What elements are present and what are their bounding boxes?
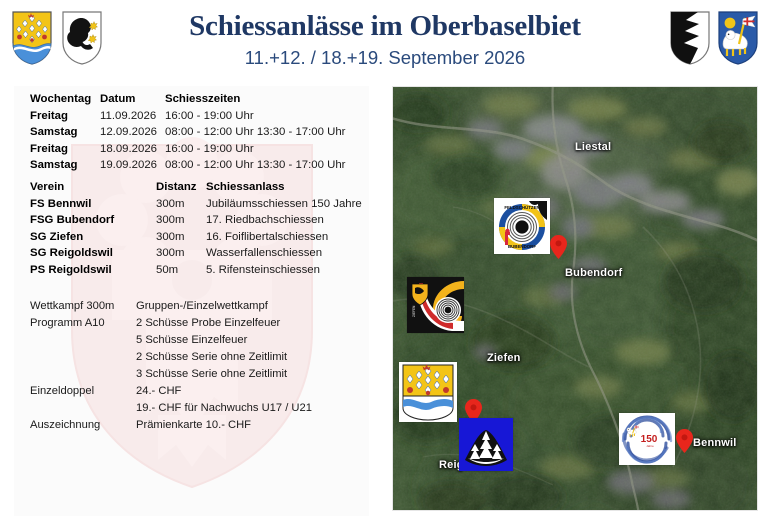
- page-title: Schiessanlässe im Oberbaselbiet: [150, 8, 620, 44]
- table-row: FS Bennwil 300m Jubiläumsschiessen 150 J…: [30, 196, 362, 213]
- table-row: FSG Bubendorf 300m 17. Riedbachschiessen: [30, 212, 362, 229]
- table-row: PS Reigoldswil 50m 5. Rifensteinschiesse…: [30, 262, 362, 279]
- rule-value: 24.- CHF: [136, 383, 312, 400]
- table-header-row: Wochentag Datum Schiesszeiten: [30, 91, 345, 108]
- rule-label: Wettkampf 300m: [30, 298, 136, 315]
- rule-value: Prämienkarte 10.- CHF: [136, 417, 312, 434]
- map-label-ziefen: Ziefen: [487, 352, 521, 364]
- rule-value: 2 Schüsse Serie ohne Zeitlimit: [136, 349, 312, 366]
- club-distance: 300m: [156, 245, 206, 262]
- poster-header: Schiessanlässe im Oberbaselbiet 11.+12. …: [0, 0, 770, 78]
- svg-text:ZIEFEN: ZIEFEN: [412, 305, 416, 317]
- pin-bennwil[interactable]: [676, 429, 693, 453]
- info-text-layer: Wochentag Datum Schiesszeiten Freitag 11…: [14, 86, 369, 516]
- schedule-header-weekday: Wochentag: [30, 91, 100, 108]
- club-distance: 300m: [156, 196, 206, 213]
- header-text-block: Schiessanlässe im Oberbaselbiet 11.+12. …: [150, 8, 620, 71]
- club-event: 5. Rifensteinschiessen: [206, 262, 362, 279]
- schedule-date: 12.09.2026: [100, 124, 165, 141]
- logo-sg-ziefen-icon[interactable]: ZIEFEN: [407, 277, 464, 333]
- rule-label: Auszeichnung: [30, 417, 136, 434]
- table-row: 19.- CHF für Nachwuchs U17 / U21: [30, 400, 312, 417]
- club-name: SG Ziefen: [30, 229, 156, 246]
- club-distance: 300m: [156, 229, 206, 246]
- rule-label: [30, 366, 136, 383]
- rule-label: [30, 349, 136, 366]
- svg-text:FELDSCHÜTZEN: FELDSCHÜTZEN: [504, 205, 539, 210]
- page-subtitle: 11.+12. / 18.+19. September 2026: [150, 45, 620, 71]
- table-row: 2 Schüsse Serie ohne Zeitlimit: [30, 349, 312, 366]
- club-event: Jubiläumsschiessen 150 Jahre: [206, 196, 362, 213]
- table-row: Samstag 19.09.2026 08:00 - 12:00 Uhr 13:…: [30, 157, 345, 174]
- schedule-table: Wochentag Datum Schiesszeiten Freitag 11…: [30, 91, 345, 174]
- club-event: Wasserfallenschiessen: [206, 245, 362, 262]
- schedule-date: 18.09.2026: [100, 141, 165, 158]
- club-name: FS Bennwil: [30, 196, 156, 213]
- map-label-bubendorf: Bubendorf: [565, 267, 622, 279]
- rule-value: Gruppen-/Einzelwettkampf: [136, 298, 312, 315]
- clubs-header-distance: Distanz: [156, 179, 206, 196]
- schedule-times: 08:00 - 12:00 Uhr 13:30 - 17:00 Uhr: [165, 124, 345, 141]
- logo-feldschuetzen-bubendorf-icon[interactable]: FELDSCHÜTZEN BUBENDORF: [494, 198, 550, 254]
- rule-value: 5 Schüsse Einzelfeuer: [136, 332, 312, 349]
- wappen-baselland-icon: [10, 10, 54, 66]
- rule-label: [30, 400, 136, 417]
- logo-wappen-reigoldswil-icon[interactable]: [399, 362, 457, 422]
- table-row: Auszeichnung Prämienkarte 10.- CHF: [30, 417, 312, 434]
- rule-label: Einzeldoppel: [30, 383, 136, 400]
- club-distance: 300m: [156, 212, 206, 229]
- svg-text:BUBENDORF: BUBENDORF: [508, 244, 536, 249]
- table-row: Freitag 11.09.2026 16:00 - 19:00 Uhr: [30, 108, 345, 125]
- club-event: 17. Riedbachschiessen: [206, 212, 362, 229]
- wappen-pratteln-icon: [60, 10, 104, 66]
- info-panel: Wochentag Datum Schiesszeiten Freitag 11…: [14, 86, 369, 516]
- clubs-header-club: Verein: [30, 179, 156, 196]
- map-label-bennwil: Bennwil: [693, 437, 737, 449]
- club-name: SG Reigoldswil: [30, 245, 156, 262]
- schedule-weekday: Samstag: [30, 157, 100, 174]
- schedule-weekday: Freitag: [30, 108, 100, 125]
- table-row: Wettkampf 300m Gruppen-/Einzelwettkampf: [30, 298, 312, 315]
- satellite-map[interactable]: Liestal Bubendorf Ziefen Reigoldswil Ben…: [393, 87, 757, 510]
- club-name: PS Reigoldswil: [30, 262, 156, 279]
- schedule-times: 08:00 - 12:00 Uhr 13:30 - 17:00 Uhr: [165, 157, 345, 174]
- schedule-header-times: Schiesszeiten: [165, 91, 345, 108]
- schedule-weekday: Samstag: [30, 124, 100, 141]
- club-distance: 50m: [156, 262, 206, 279]
- table-row: SG Ziefen 300m 16. Foiflibertalschiessen: [30, 229, 362, 246]
- schedule-times: 16:00 - 19:00 Uhr: [165, 141, 345, 158]
- schedule-times: 16:00 - 19:00 Uhr: [165, 108, 345, 125]
- club-event: 16. Foiflibertalschiessen: [206, 229, 362, 246]
- svg-text:Jahre: Jahre: [646, 444, 654, 448]
- table-row: SG Reigoldswil 300m Wasserfallenschiesse…: [30, 245, 362, 262]
- rule-value: 19.- CHF für Nachwuchs U17 / U21: [136, 400, 312, 417]
- rule-value: 2 Schüsse Probe Einzelfeuer: [136, 315, 312, 332]
- club-name: FSG Bubendorf: [30, 212, 156, 229]
- logo-fs-bennwil-icon[interactable]: 150 Jahre: [619, 413, 675, 465]
- clubs-table: Verein Distanz Schiessanlass FS Bennwil …: [30, 179, 362, 278]
- rule-label: Programm A10: [30, 315, 136, 332]
- table-row: Programm A10 2 Schüsse Probe Einzelfeuer: [30, 315, 312, 332]
- clubs-header-event: Schiessanlass: [206, 179, 362, 196]
- rule-label: [30, 332, 136, 349]
- pin-bubendorf[interactable]: [550, 235, 567, 259]
- schedule-header-date: Datum: [100, 91, 165, 108]
- schedule-date: 19.09.2026: [100, 157, 165, 174]
- table-row: 3 Schüsse Serie ohne Zeitlimit: [30, 366, 312, 383]
- table-row: Samstag 12.09.2026 08:00 - 12:00 Uhr 13:…: [30, 124, 345, 141]
- table-header-row: Verein Distanz Schiessanlass: [30, 179, 362, 196]
- schedule-date: 11.09.2026: [100, 108, 165, 125]
- table-row: Freitag 18.09.2026 16:00 - 19:00 Uhr: [30, 141, 345, 158]
- wappen-lamm-icon: [716, 10, 760, 66]
- poster-root: Schiessanlässe im Oberbaselbiet 11.+12. …: [0, 0, 770, 527]
- map-label-liestal: Liestal: [575, 141, 611, 153]
- table-row: Einzeldoppel 24.- CHF: [30, 383, 312, 400]
- rule-value: 3 Schüsse Serie ohne Zeitlimit: [136, 366, 312, 383]
- table-row: 5 Schüsse Einzelfeuer: [30, 332, 312, 349]
- wappen-ziefen-icon: [668, 10, 712, 66]
- schedule-weekday: Freitag: [30, 141, 100, 158]
- logo-ps-reigoldswil-icon[interactable]: [459, 418, 513, 471]
- rules-table: Wettkampf 300m Gruppen-/Einzelwettkampf …: [30, 298, 312, 434]
